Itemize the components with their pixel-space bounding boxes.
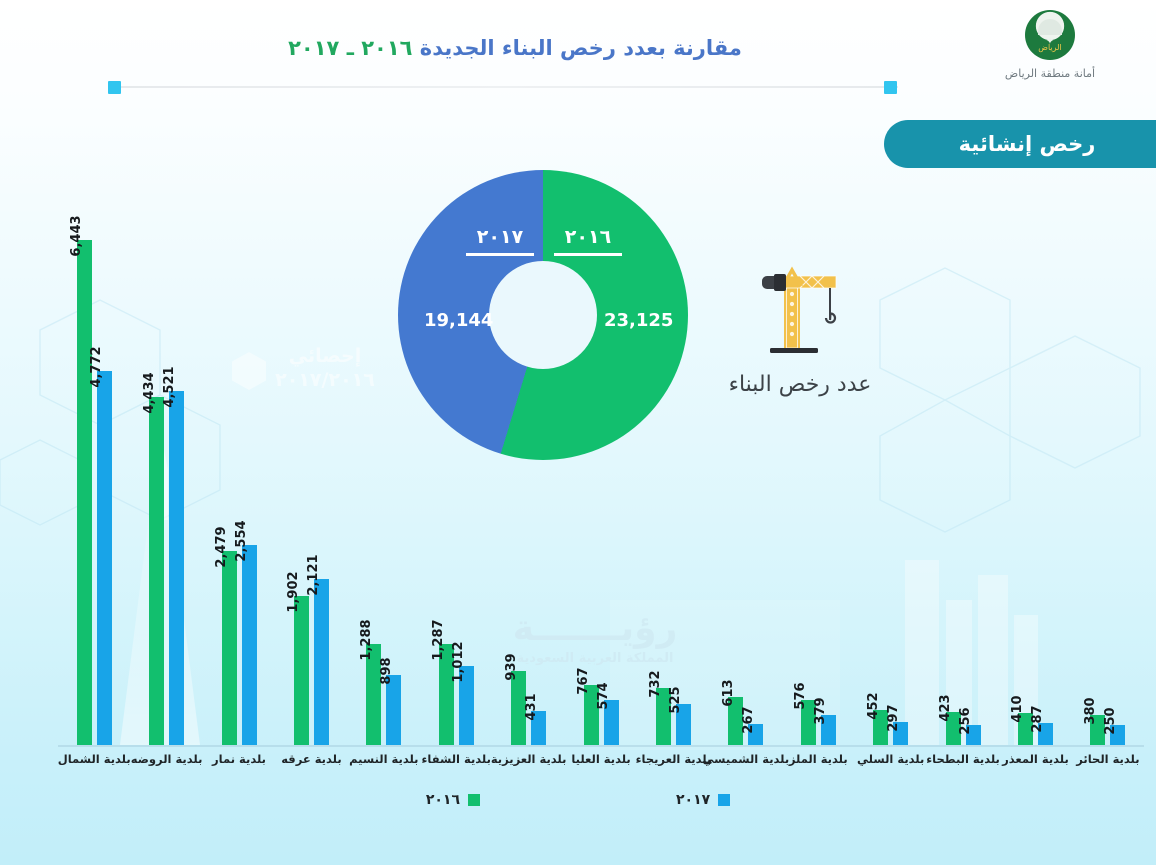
bar-value-label: 2,554 [234,520,249,561]
bar-٢٠١٧-بلدية الشمال: 4,772 [97,371,112,745]
bar-value-label: 613 [721,679,736,706]
legend-swatch-icon [468,794,480,806]
category-label-text: بلدية الحائر [1076,752,1139,766]
bar-group: 380250 [1072,240,1144,745]
title-divider [112,86,898,88]
bar-value-label: 732 [648,670,663,697]
bar-٢٠١٦-بلدية الشمال: 6,443 [77,240,92,745]
bar-value-label: 4,521 [162,366,177,407]
header: مقارنة بعدد رخص البناء الجديدة ٢٠١٦ ـ ٢٠… [0,0,1156,115]
bar-٢٠١٧-بلدية الروضه: 4,521 [169,391,184,745]
bar-rect [149,397,164,745]
riyadh-municipality-logo-icon: ✦ الرياض [1025,10,1075,60]
bar-group: 2,4792,554 [203,240,275,745]
category-label-text: بلدية عرقه [281,752,341,766]
category-label-text: بلدية الشميسي [703,752,790,766]
section-badge[interactable]: رخص إنشائية [884,120,1156,168]
bar-value-label: 1,287 [431,620,446,661]
bar-value-label: 410 [1010,695,1025,722]
legend-item-٢٠١٦[interactable]: ٢٠١٦ [426,792,480,808]
bar-value-label: 898 [379,657,394,684]
category-label-text: بلدية العزيزية [491,752,567,766]
bar-rect [222,551,237,745]
bar-rect [169,391,184,745]
organization-logo: ✦ الرياض أمانة منطقة الرياض [992,10,1108,80]
bar-value-label: 1,288 [359,620,374,661]
category-label-text: بلدية الروضه [131,752,203,766]
bar-group: 1,9022,121 [275,240,347,745]
bar-value-label: 525 [668,686,683,713]
category-label-text: بلدية نمار [212,752,266,766]
logo-dome-shape [1038,19,1062,35]
bar-group: 423256 [927,240,999,745]
bar-group: 1,288898 [348,240,420,745]
bar-٢٠١٧-بلدية الشميسي: 267 [748,724,763,745]
bar-٢٠١٧-بلدية العزيزية: 431 [531,711,546,745]
bar-value-label: 576 [793,682,808,709]
bar-value-label: 380 [1083,698,1098,725]
bar-group: 410287 [999,240,1071,745]
bar-value-label: 767 [576,667,591,694]
bar-value-label: 2,479 [214,526,229,567]
category-label-text: بلدية الشمال [58,752,131,766]
bar-value-label: 939 [504,654,519,681]
divider-cap-right-icon [884,81,897,94]
bar-rect [386,675,401,745]
category-label-text: بلدية الملز [789,752,848,766]
category-label-text: بلدية النسيم [349,752,418,766]
bar-group: 576379 [782,240,854,745]
bar-٢٠١٦-بلدية نمار: 2,479 [222,551,237,745]
bar-group: 939431 [492,240,564,745]
bar-rect [242,545,257,745]
page-title: مقارنة بعدد رخص البناء الجديدة ٢٠١٦ ـ ٢٠… [110,36,920,60]
bar-value-label: 452 [866,692,881,719]
bar-٢٠١٧-بلدية العريجاء: 525 [676,704,691,745]
bar-value-label: 431 [524,694,539,721]
page-title-text: مقارنة بعدد رخص البناء الجديدة [420,36,742,60]
bar-value-label: 4,772 [89,346,104,387]
bar-group: 1,2871,012 [420,240,492,745]
chart-legend: ٢٠١٦٢٠١٧ [0,785,1156,815]
legend-item-٢٠١٧[interactable]: ٢٠١٧ [676,792,730,808]
bar-group: 613267 [710,240,782,745]
bar-chart: 6,4434,7724,4344,5212,4792,5541,9022,121… [58,240,1144,745]
category-label-text: بلدية العريجاء [636,752,712,766]
page-title-years: ٢٠١٦ ـ ٢٠١٧ [288,36,412,60]
logo-band-text: الرياض [1025,43,1075,52]
bar-groups: 6,4434,7724,4344,5212,4792,5541,9022,121… [58,240,1144,745]
bar-٢٠١٧-بلدية المعذر: 287 [1038,723,1053,745]
bar-٢٠١٧-بلدية النسيم: 898 [386,675,401,745]
bar-rect [314,579,329,745]
legend-swatch-icon [718,794,730,806]
bar-group: 6,4434,772 [58,240,130,745]
category-label-text: بلدية العليا [571,752,630,766]
category-label-text: بلدية البطحاء [926,752,1000,766]
bar-value-label: 267 [741,707,756,734]
bar-value-label: 297 [886,704,901,731]
bar-٢٠١٧-بلدية الشفاء: 1,012 [459,666,474,745]
legend-label: ٢٠١٦ [426,792,460,808]
bar-٢٠١٧-بلدية العليا: 574 [604,700,619,745]
bar-rect [97,371,112,745]
logo-caption: أمانة منطقة الرياض [992,67,1108,80]
bar-group: 767574 [565,240,637,745]
bar-group: 4,4344,521 [130,240,202,745]
bar-value-label: 250 [1103,708,1118,735]
bar-group: 732525 [637,240,709,745]
bar-٢٠١٦-بلدية عرقه: 1,902 [294,596,309,745]
bar-rect [294,596,309,745]
category-label-text: بلدية المعذر [1002,752,1069,766]
bar-٢٠١٧-بلدية عرقه: 2,121 [314,579,329,745]
category-label-text: بلدية الشفاء [422,752,491,766]
bar-value-label: 574 [596,682,611,709]
bar-rect [77,240,92,745]
bar-٢٠١٧-بلدية نمار: 2,554 [242,545,257,745]
category-label-text: بلدية السلي [857,752,924,766]
bar-value-label: 379 [813,698,828,725]
bar-٢٠١٦-بلدية الروضه: 4,434 [149,397,164,745]
bar-value-label: 2,121 [306,554,321,595]
bar-chart-axis-line [58,745,1144,747]
bar-value-label: 1,012 [451,641,466,682]
bar-٢٠١٧-بلدية الحائر: 250 [1110,725,1125,745]
bar-٢٠١٧-بلدية البطحاء: 256 [966,725,981,745]
bar-value-label: 287 [1030,705,1045,732]
legend-label: ٢٠١٧ [676,792,710,808]
bar-value-label: 6,443 [69,215,84,256]
bar-group: 452297 [854,240,926,745]
bar-value-label: 423 [938,694,953,721]
bar-value-label: 256 [958,707,973,734]
bar-٢٠١٧-بلدية الملز: 379 [821,715,836,745]
bar-٢٠١٧-بلدية السلي: 297 [893,722,908,745]
bar-value-label: 4,434 [142,373,157,414]
bar-value-label: 1,902 [286,571,301,612]
divider-cap-left-icon [108,81,121,94]
